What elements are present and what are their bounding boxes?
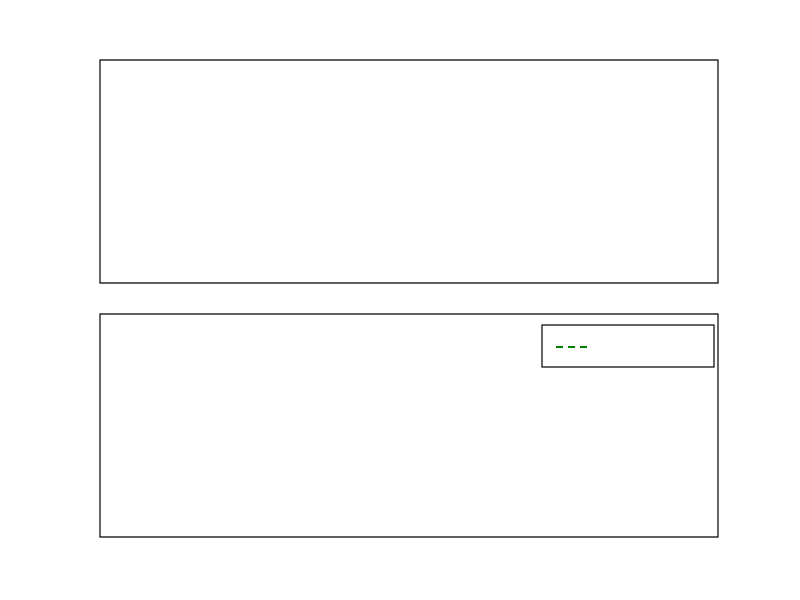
matplotlib-figure	[0, 0, 800, 600]
figure-canvas	[0, 0, 800, 600]
legend-box	[542, 325, 714, 367]
figure-background	[0, 0, 800, 600]
legend[interactable]	[542, 325, 714, 367]
